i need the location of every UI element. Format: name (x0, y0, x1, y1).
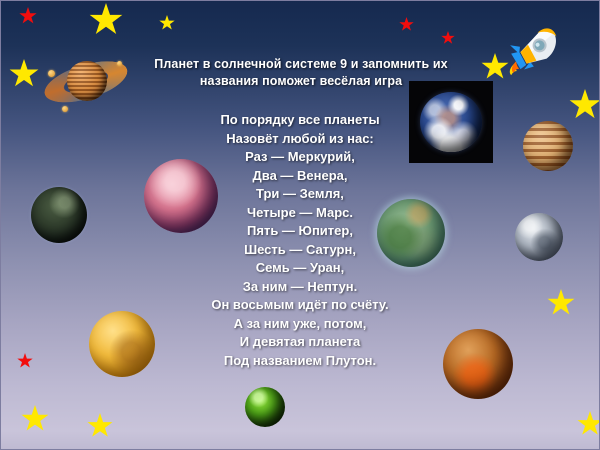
poem-line: Три — Земля, (1, 185, 599, 204)
poem-line: По порядку все планеты (1, 111, 599, 130)
poem-line: И девятая планета (1, 333, 599, 352)
poem-line: Два — Венера, (1, 167, 599, 186)
poem-line: Под названием Плутон. (1, 352, 599, 371)
slide-title-line-1: Планет в солнечной системе 9 и запомнить… (106, 56, 496, 73)
star-yellow-bot-3 (577, 411, 600, 437)
poem-line: А за ним уже, потом, (1, 315, 599, 334)
star-yellow-left-1 (9, 59, 39, 89)
poem-line: Семь — Уран, (1, 259, 599, 278)
poem-line: Четыре — Марс. (1, 204, 599, 223)
star-red-top-2 (399, 17, 414, 32)
poem-line: Шесть — Сатурн, (1, 241, 599, 260)
saturn-moon-1 (48, 70, 55, 77)
star-yellow-bot-1 (21, 405, 49, 433)
slide-canvas: Планет в солнечной системе 9 и запомнить… (0, 0, 600, 450)
star-yellow-top-1 (89, 3, 123, 37)
star-yellow-top-2 (159, 15, 175, 31)
star-yellow-bot-2 (87, 413, 113, 439)
poem-line: Раз — Меркурий, (1, 148, 599, 167)
poem-line: Он восьмым идёт по счёту. (1, 296, 599, 315)
rocket-icon (501, 19, 565, 81)
poem-line: За ним — Нептун. (1, 278, 599, 297)
poem-text: По порядку все планеты Назовёт любой из … (1, 111, 599, 370)
poem-line: Пять — Юпитер, (1, 222, 599, 241)
poem-line: Назовёт любой из нас: (1, 130, 599, 149)
star-red-top-1 (19, 7, 37, 25)
star-red-top-3 (441, 31, 455, 45)
saturn-body (67, 61, 107, 101)
green-planet (245, 387, 285, 427)
